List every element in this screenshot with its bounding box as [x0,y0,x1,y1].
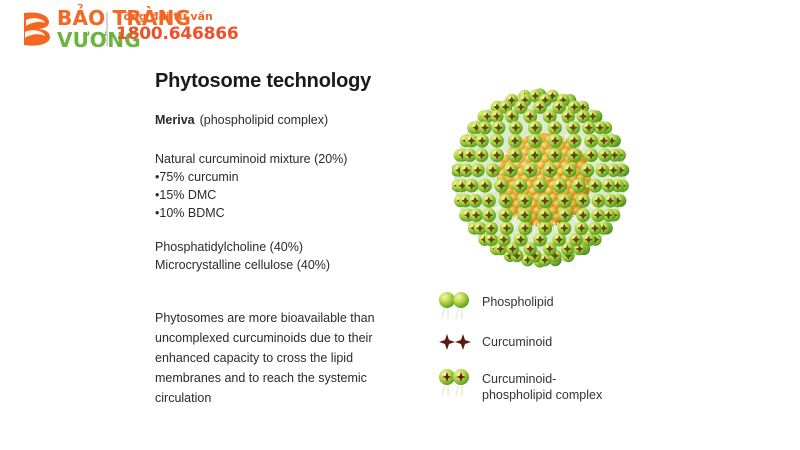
mixture-item: •75% curcumin [155,168,347,186]
meriva-line: Meriva(phospholipid complex) [155,113,328,127]
curcuminoid-phospholipid-complex-icon [436,367,482,397]
composition-item: Microcrystalline cellulose (40%) [155,256,330,274]
header-divider [106,12,108,46]
curcuminoid-mixture-block: Natural curcuminoid mixture (20%) •75% c… [155,150,347,222]
hotline-label: Tổng đài tư vấn [116,11,239,22]
legend-item-curcuminoid: Curcuminoid [436,333,666,351]
mixture-heading: Natural curcuminoid mixture (20%) [155,150,347,168]
hotline-block[interactable]: Tổng đài tư vấn 1800.646866 [116,11,239,43]
legend-label-phospholipid: Phospholipid [482,290,554,310]
composition-item: Phosphatidylcholine (40%) [155,238,330,256]
legend-label-complex: Curcuminoid- phospholipid complex [482,367,602,403]
legend-label-complex-line1: Curcuminoid- [482,371,602,387]
mixture-item: •15% DMC [155,186,347,204]
legend-label-curcuminoid: Curcuminoid [482,334,552,350]
legend-item-complex: Curcuminoid- phospholipid complex [436,367,666,403]
phytosome-sphere-illustration [452,88,632,270]
legend-item-phospholipid: Phospholipid [436,290,666,320]
legend: Phospholipid Curcuminoid Curcuminoid- ph… [436,290,666,416]
curcuminoid-icon [436,333,482,351]
composition-block: Phosphatidylcholine (40%) Microcrystalli… [155,238,330,274]
leaf-b-logo-icon [18,10,54,48]
page-title: Phytosome technology [155,70,371,93]
meriva-name: Meriva [155,113,195,127]
site-header: BẢO TRÀNG VƯƠNG Tổng đài tư vấn 1800.646… [0,0,800,58]
meriva-description: (phospholipid complex) [200,113,329,127]
hotline-number[interactable]: 1800.646866 [116,26,239,43]
summary-paragraph: Phytosomes are more bioavailable than un… [155,308,417,408]
legend-label-complex-line2: phospholipid complex [482,387,602,403]
phospholipid-icon [436,290,482,320]
mixture-item: •10% BDMC [155,204,347,222]
